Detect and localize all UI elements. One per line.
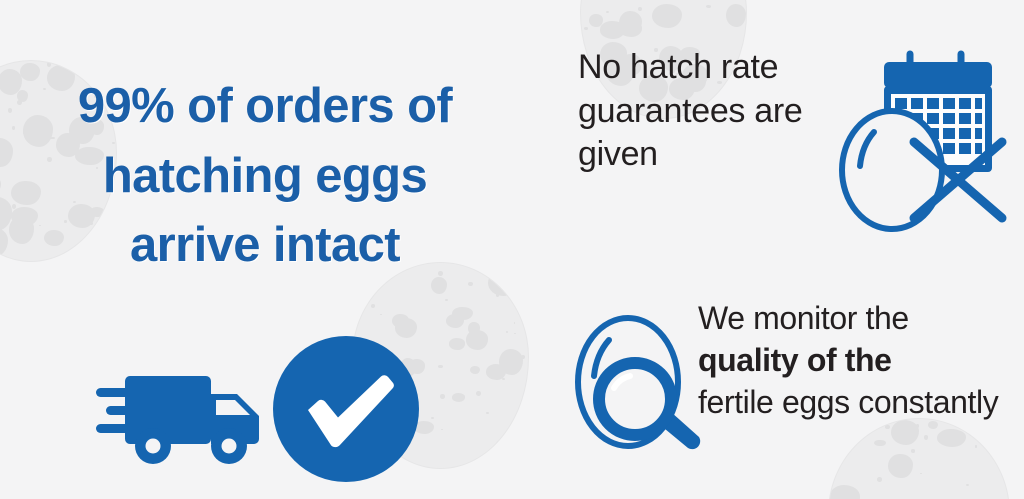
guarantee-text: No hatch rate guarantees are given: [578, 46, 848, 177]
guarantee-line-3: given: [578, 133, 848, 177]
delivery-truck-icon: [96, 358, 276, 466]
check-circle-icon: [271, 334, 421, 484]
calendar-egg-cross-icon: [824, 42, 1024, 234]
infographic-canvas: 99% of orders of hatching eggs arrive in…: [0, 0, 1024, 499]
orders-intact-panel: 99% of orders of hatching eggs arrive in…: [0, 0, 520, 499]
monitor-line-2: quality of the: [698, 340, 1024, 382]
monitor-line-3: fertile eggs constantly: [698, 382, 1024, 424]
headline-line-1: 99% of orders of: [40, 72, 490, 142]
monitor-line-1: We monitor the: [698, 298, 1024, 340]
quality-monitor-panel: We monitor the quality of the fertile eg…: [566, 292, 1024, 462]
headline-line-3: arrive intact: [40, 211, 490, 281]
egg-magnifier-icon: [566, 302, 708, 454]
no-guarantee-panel: No hatch rate guarantees are given: [578, 46, 1024, 236]
headline-orders-intact: 99% of orders of hatching eggs arrive in…: [40, 72, 490, 281]
headline-line-2: hatching eggs: [40, 142, 490, 212]
guarantee-line-2: guarantees are: [578, 90, 848, 134]
guarantee-line-1: No hatch rate: [578, 46, 848, 90]
monitor-text: We monitor the quality of the fertile eg…: [698, 298, 1024, 424]
